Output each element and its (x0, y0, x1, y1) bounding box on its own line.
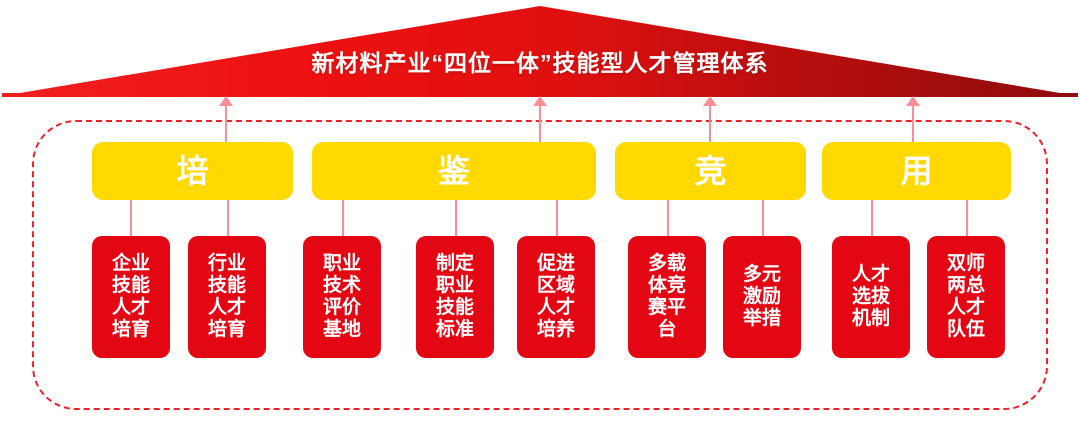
leaf-box-jing-1[interactable]: 多载 体竞 赛平 台 (628, 236, 706, 358)
leaf-box-yong-2[interactable]: 双师 两总 人才 队伍 (927, 236, 1005, 358)
diagram-canvas: 新材料产业“四位一体”技能型人才管理体系 培 鉴 竞 用 企业 技 (0, 0, 1080, 434)
leaf-box-label: 多元 激励 举措 (741, 264, 783, 330)
connector-jian-2 (455, 200, 457, 236)
leaf-box-jian-1[interactable]: 职业 技术 评价 基地 (303, 236, 381, 358)
arrow-shaft (709, 104, 711, 142)
category-box-jian[interactable]: 鉴 (312, 142, 596, 200)
leaf-box-jing-2[interactable]: 多元 激励 举措 (723, 236, 801, 358)
leaf-box-jian-2[interactable]: 制定 职业 技能 标准 (416, 236, 494, 358)
title-banner: 新材料产业“四位一体”技能型人才管理体系 (0, 0, 1080, 100)
connector-jian-1 (342, 200, 344, 236)
arrow-up-yong (906, 96, 920, 142)
arrow-shaft (225, 104, 227, 142)
leaf-box-label: 企业 技能 人才 培育 (110, 253, 152, 341)
leaf-box-label: 双师 两总 人才 队伍 (945, 253, 987, 341)
category-label: 用 (900, 155, 932, 187)
leaf-box-yong-1[interactable]: 人才 选拔 机制 (832, 236, 910, 358)
connector-yong-2 (966, 200, 968, 236)
connector-jing-1 (667, 200, 669, 236)
leaf-box-label: 职业 技术 评价 基地 (321, 253, 363, 341)
arrow-shaft (912, 104, 914, 142)
connector-pei-1 (130, 200, 132, 236)
connector-jing-2 (762, 200, 764, 236)
leaf-box-label: 人才 选拔 机制 (850, 264, 892, 330)
leaf-box-label: 行业 技能 人才 培育 (206, 253, 248, 341)
leaf-box-label: 多载 体竞 赛平 台 (646, 253, 688, 341)
leaf-box-pei-2[interactable]: 行业 技能 人才 培育 (188, 236, 266, 358)
connector-pei-2 (227, 200, 229, 236)
arrow-up-pei (219, 96, 233, 142)
category-label: 鉴 (438, 155, 470, 187)
page-title: 新材料产业“四位一体”技能型人才管理体系 (0, 52, 1080, 75)
category-box-yong[interactable]: 用 (822, 142, 1011, 200)
arrow-up-jing (703, 96, 717, 142)
leaf-box-pei-1[interactable]: 企业 技能 人才 培育 (92, 236, 170, 358)
leaf-box-label: 制定 职业 技能 标准 (434, 253, 476, 341)
arrow-shaft (539, 104, 541, 142)
category-box-jing[interactable]: 竞 (615, 142, 806, 200)
leaf-box-label: 促进 区域 人才 培养 (535, 253, 577, 341)
category-label: 培 (176, 155, 208, 187)
leaf-box-jian-3[interactable]: 促进 区域 人才 培养 (517, 236, 595, 358)
arrow-up-jian (533, 96, 547, 142)
connector-yong-1 (871, 200, 873, 236)
connector-jian-3 (556, 200, 558, 236)
category-box-pei[interactable]: 培 (92, 142, 293, 200)
category-label: 竞 (694, 155, 726, 187)
